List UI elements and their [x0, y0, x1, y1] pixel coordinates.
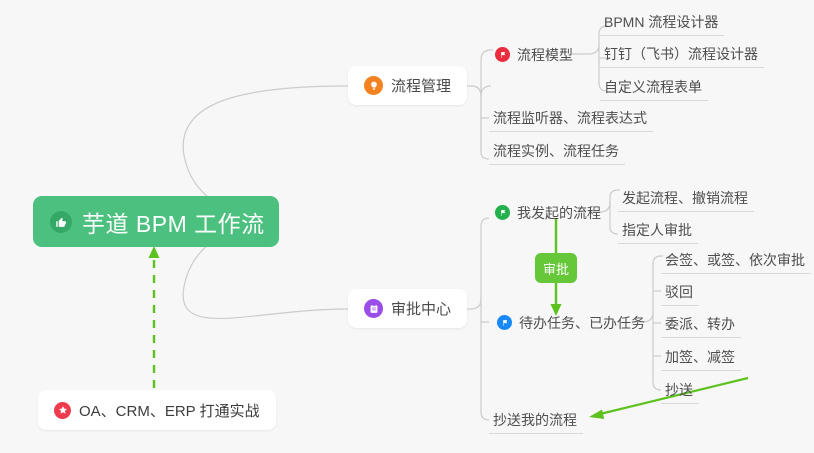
star-icon	[54, 402, 71, 419]
leaf-label: 委派、转办	[665, 317, 735, 331]
leaf-countersign[interactable]: 会签、或签、依次审批	[661, 247, 811, 274]
leaf-assignee-approve[interactable]: 指定人审批	[618, 217, 698, 244]
flag-icon	[495, 47, 510, 62]
node-liucheng-guanli[interactable]: 流程管理	[348, 66, 467, 105]
leaf-label: BPMN 流程设计器	[604, 15, 718, 29]
node-label: 待办任务、已办任务	[519, 316, 645, 330]
lightbulb-icon	[364, 76, 383, 95]
leaf-label: 流程实例、流程任务	[493, 144, 619, 158]
leaf-delegate-transfer[interactable]: 委派、转办	[661, 311, 741, 338]
node-label: 审批中心	[391, 298, 451, 319]
leaf-label: 钉钉（飞书）流程设计器	[604, 47, 758, 61]
leaf-cc-my-flow[interactable]: 抄送我的流程	[489, 407, 583, 434]
mindmap-canvas: 芋道 BPM 工作流 流程管理 流程模型 BPMN 流程设计器 钉钉（飞书）流程…	[0, 0, 814, 453]
leaf-label: 指定人审批	[622, 223, 692, 237]
node-oa-crm-erp[interactable]: OA、CRM、ERP 打通实战	[38, 390, 276, 430]
node-liucheng-moxing[interactable]: 流程模型	[491, 41, 579, 68]
node-shenpi-zhongxin[interactable]: 审批中心	[348, 289, 467, 328]
leaf-instance-task[interactable]: 流程实例、流程任务	[489, 138, 625, 165]
flag-icon	[495, 205, 510, 220]
leaf-label: 抄送	[665, 383, 693, 397]
leaf-carbon-copy[interactable]: 抄送	[661, 377, 699, 404]
node-daiban-renwu[interactable]: 待办任务、已办任务	[493, 309, 651, 336]
leaf-label: 抄送我的流程	[493, 413, 577, 427]
node-label: 我发起的流程	[517, 206, 601, 220]
leaf-label: 流程监听器、流程表达式	[493, 111, 647, 125]
clipboard-icon	[364, 299, 383, 318]
leaf-custom-form[interactable]: 自定义流程表单	[600, 74, 708, 101]
leaf-listener-expression[interactable]: 流程监听器、流程表达式	[489, 105, 653, 132]
root-label: 芋道 BPM 工作流	[82, 205, 265, 239]
leaf-add-remove-sign[interactable]: 加签、减签	[661, 344, 741, 371]
approval-badge-label: 审批	[543, 259, 569, 278]
leaf-label: 发起流程、撤销流程	[622, 191, 748, 205]
thumbs-up-icon	[50, 211, 72, 233]
leaf-label: 驳回	[665, 285, 693, 299]
flag-icon	[497, 315, 512, 330]
leaf-dingtalk-designer[interactable]: 钉钉（飞书）流程设计器	[600, 41, 764, 68]
approval-badge: 审批	[535, 253, 577, 283]
node-wo-faqi[interactable]: 我发起的流程	[491, 199, 607, 226]
leaf-label: 会签、或签、依次审批	[665, 253, 805, 267]
node-label: 流程模型	[517, 48, 573, 62]
leaf-label: 加签、减签	[665, 350, 735, 364]
leaf-reject[interactable]: 驳回	[661, 279, 699, 306]
leaf-label: 自定义流程表单	[604, 80, 702, 94]
leaf-start-cancel-flow[interactable]: 发起流程、撤销流程	[618, 185, 754, 212]
leaf-bpmn-designer[interactable]: BPMN 流程设计器	[600, 9, 724, 36]
node-label: 流程管理	[391, 75, 451, 96]
node-label: OA、CRM、ERP 打通实战	[79, 400, 260, 421]
root-node[interactable]: 芋道 BPM 工作流	[33, 196, 279, 247]
